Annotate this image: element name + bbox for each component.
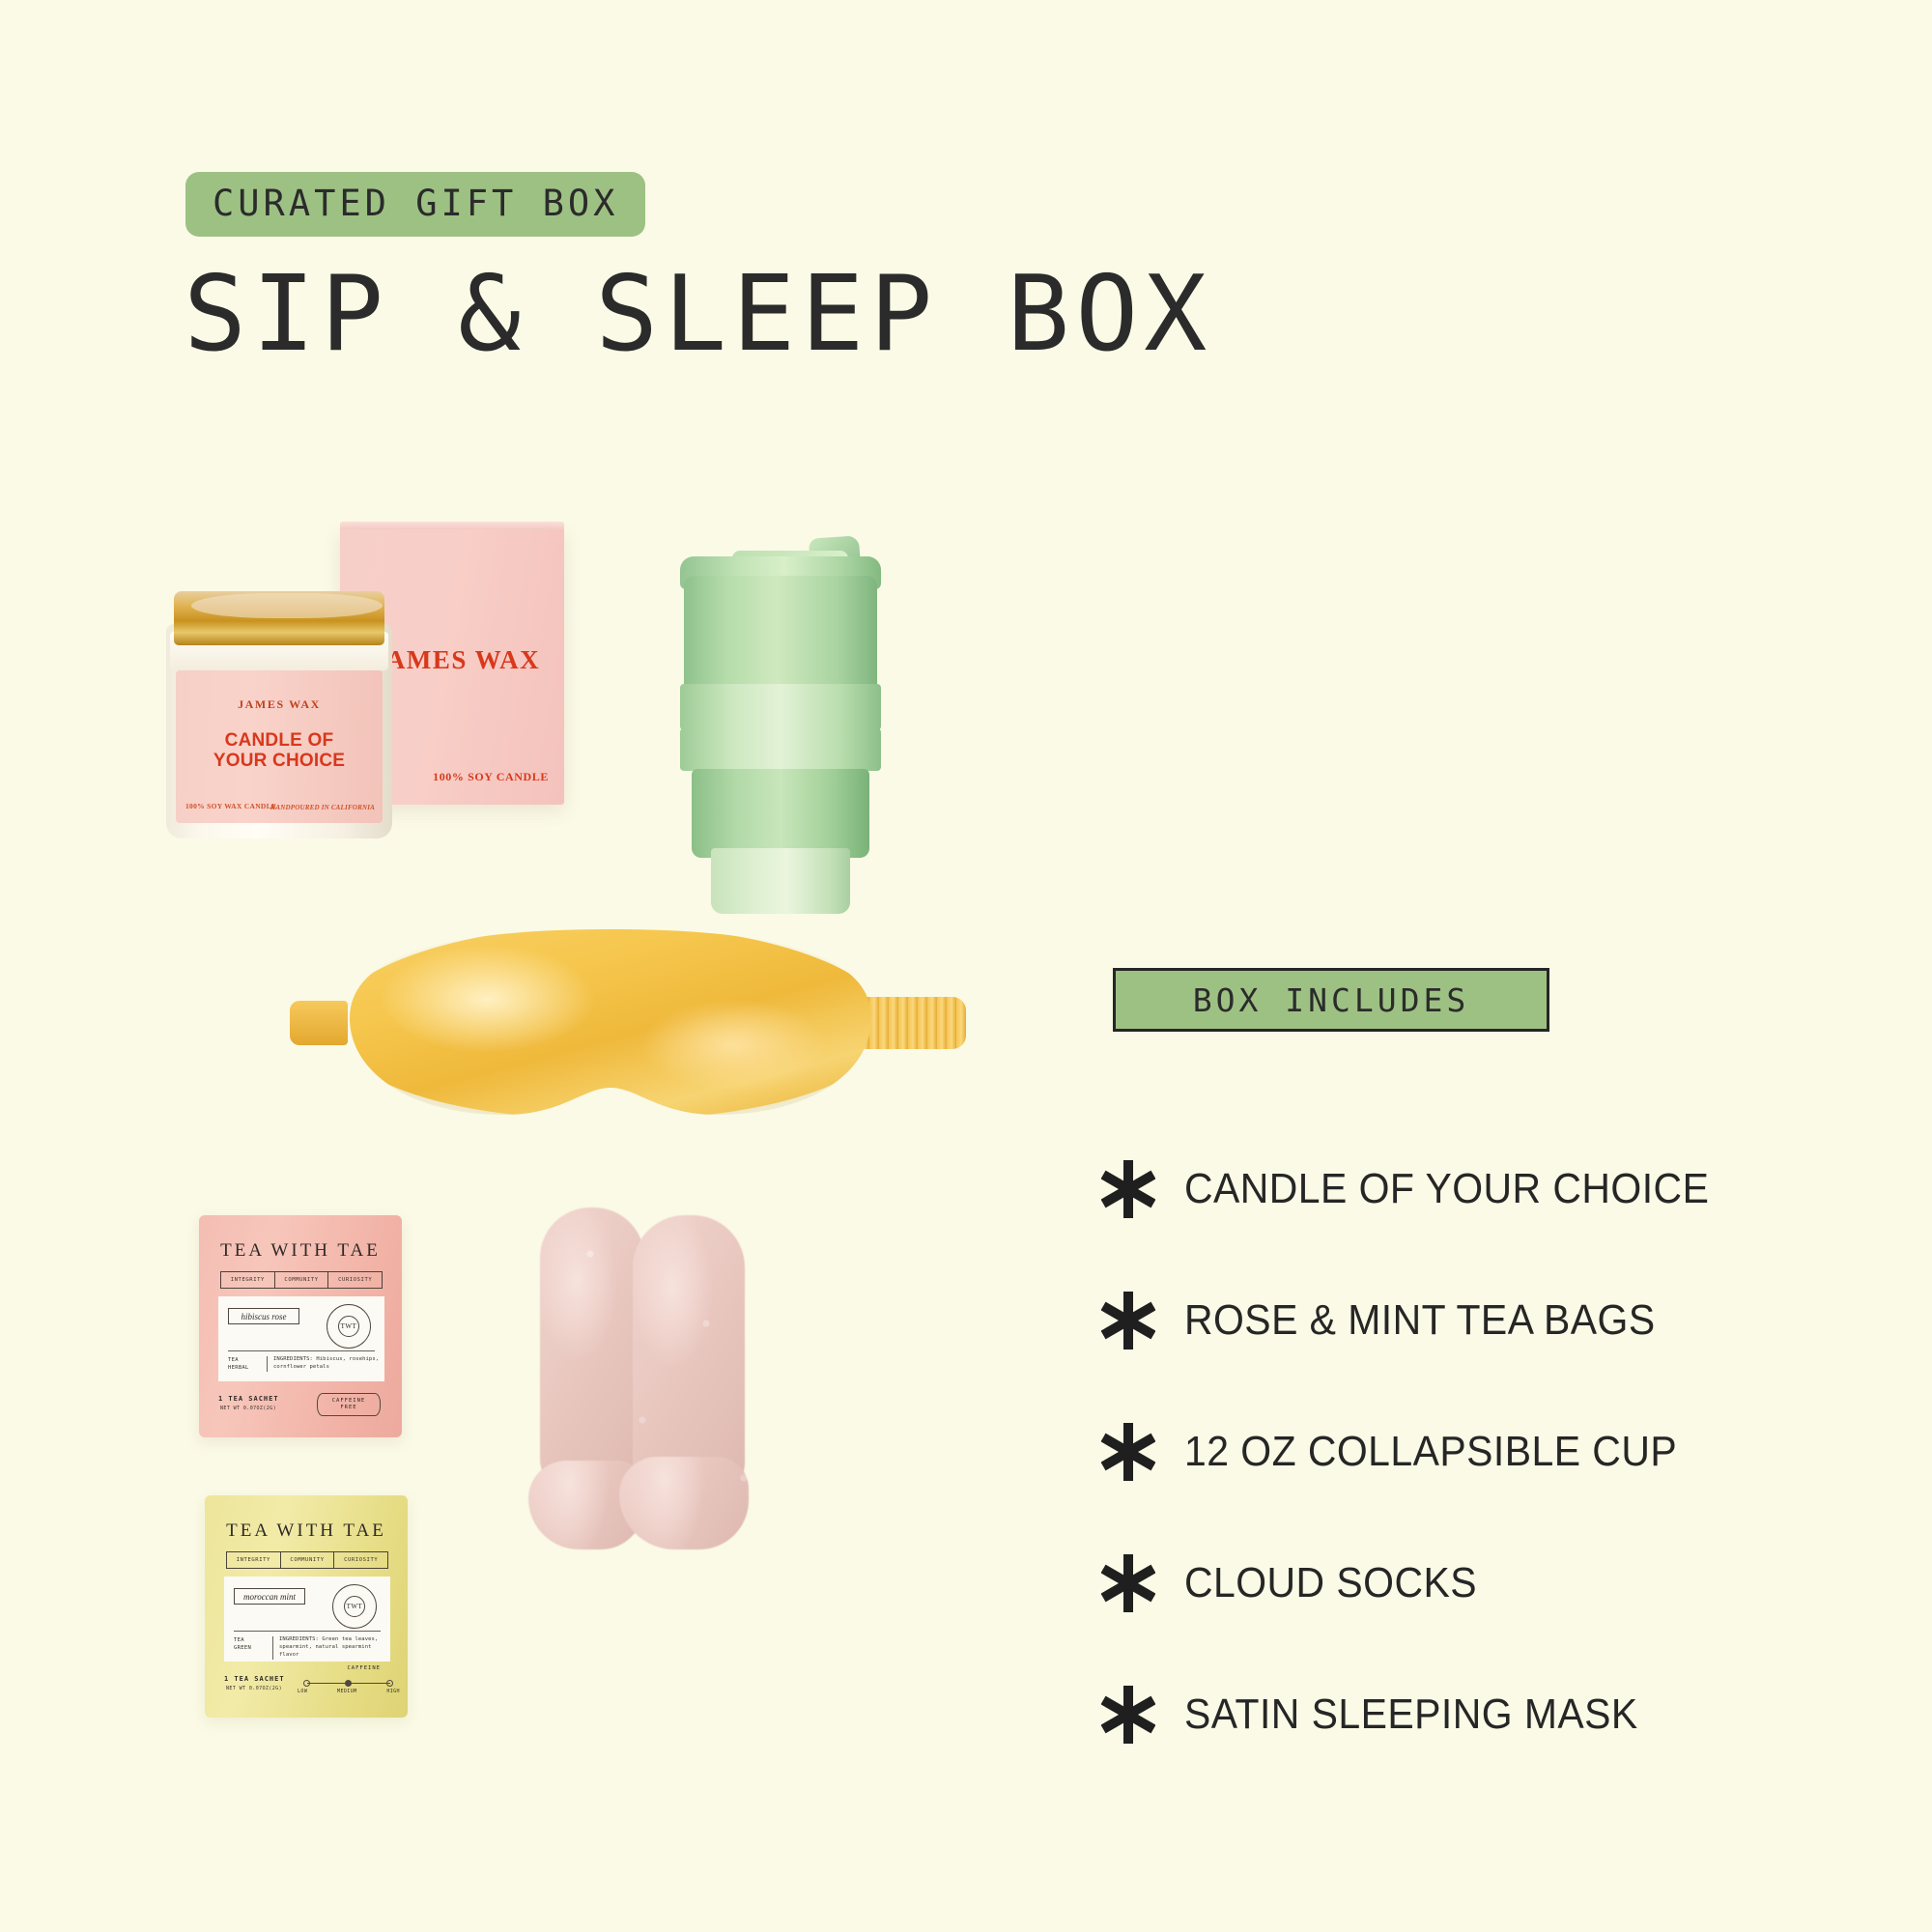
tea-yellow-value-2: COMMUNITY bbox=[280, 1552, 334, 1568]
box-includes-badge: BOX INCLUDES bbox=[1113, 968, 1549, 1032]
tea-yellow-value-1: INTEGRITY bbox=[227, 1552, 280, 1568]
sock-right-foot bbox=[619, 1457, 749, 1549]
mask-body bbox=[330, 925, 891, 1119]
tea-pink-value-1: INTEGRITY bbox=[221, 1272, 274, 1288]
candle-jar-title-line2: YOUR CHOICE bbox=[176, 751, 383, 771]
curated-gift-box-badge-label: CURATED GIFT BOX bbox=[213, 183, 618, 224]
tea-yellow-seal-icon: TWT bbox=[332, 1584, 377, 1629]
tea-yellow-type-line1: TEA bbox=[234, 1636, 267, 1644]
tea-pink-ingredients: INGREDIENTS: Hibiscus, rosehips, cornflo… bbox=[267, 1356, 382, 1372]
list-item: CANDLE OF YOUR CHOICE bbox=[1101, 1159, 1855, 1219]
asterisk-icon bbox=[1101, 1160, 1184, 1218]
list-item-label: 12 OZ COLLAPSIBLE CUP bbox=[1184, 1428, 1677, 1476]
candle-jar-foot-right: HANDPOURED IN CALIFORNIA bbox=[270, 804, 375, 811]
tea-pink-type-line2: HERBAL bbox=[228, 1364, 261, 1372]
tea-yellow-foot: 1 TEA SACHET bbox=[224, 1675, 285, 1683]
tea-yellow-divider bbox=[234, 1631, 381, 1632]
tea-pink-divider bbox=[228, 1350, 375, 1351]
candle-jar-brand: JAMES WAX bbox=[176, 697, 383, 712]
asterisk-icon bbox=[1101, 1292, 1184, 1350]
tea-yellow-scale-labels: LOW MEDIUM HIGH bbox=[298, 1689, 400, 1694]
tea-yellow-ingredients: INGREDIENTS: Green tea leaves, spearmint… bbox=[272, 1636, 387, 1660]
gift-box-poster: CURATED GIFT BOX SIP & SLEEP BOX JAMES W… bbox=[0, 0, 1932, 1932]
tea-pink-seal-mark: TWT bbox=[338, 1316, 359, 1337]
tea-pink-caffeine-free-badge: CAFFEINE FREE bbox=[317, 1393, 381, 1416]
satin-sleeping-mask bbox=[290, 916, 966, 1148]
cup-fold-lower bbox=[680, 728, 881, 771]
list-item-label: ROSE & MINT TEA BAGS bbox=[1184, 1296, 1656, 1345]
tea-yellow-type: TEA GREEN bbox=[234, 1636, 267, 1653]
asterisk-icon bbox=[1101, 1554, 1184, 1612]
list-item-label: CANDLE OF YOUR CHOICE bbox=[1184, 1165, 1709, 1213]
list-item-label: CLOUD SOCKS bbox=[1184, 1559, 1477, 1607]
list-item-label: SATIN SLEEPING MASK bbox=[1184, 1690, 1638, 1739]
caffeine-label-medium: MEDIUM bbox=[337, 1689, 356, 1694]
cup-foot bbox=[711, 848, 850, 914]
list-item: ROSE & MINT TEA BAGS bbox=[1101, 1291, 1855, 1350]
candle-jar-foot-left: 100% SOY WAX CANDLE bbox=[185, 802, 276, 810]
list-item: CLOUD SOCKS bbox=[1101, 1553, 1855, 1613]
caffeine-scale-dot-medium bbox=[345, 1680, 352, 1687]
tea-sachet-hibiscus-rose: TEA WITH TAE INTEGRITY COMMUNITY CURIOSI… bbox=[199, 1215, 402, 1437]
cup-fold-upper bbox=[680, 684, 881, 730]
tea-yellow-foot-sub: NET WT 0.07OZ(2G) bbox=[226, 1686, 282, 1691]
tea-pink-values: INTEGRITY COMMUNITY CURIOSITY bbox=[220, 1271, 383, 1289]
tea-yellow-seal-mark: TWT bbox=[344, 1596, 365, 1617]
tea-pink-caffeine-line1: CAFFEINE bbox=[332, 1398, 366, 1405]
tea-pink-brand: TEA WITH TAE bbox=[199, 1240, 402, 1262]
list-item: SATIN SLEEPING MASK bbox=[1101, 1685, 1855, 1745]
tea-pink-seal-icon: TWT bbox=[327, 1304, 371, 1349]
candle-jar: JAMES WAX CANDLE OF YOUR CHOICE 100% SOY… bbox=[166, 580, 392, 838]
tea-yellow-flavor: moroccan mint bbox=[234, 1588, 305, 1605]
cup-upper-body bbox=[684, 576, 877, 688]
tea-pink-type-line1: TEA bbox=[228, 1356, 261, 1364]
tea-pink-value-3: CURIOSITY bbox=[327, 1272, 382, 1288]
tea-pink-foot: 1 TEA SACHET bbox=[218, 1395, 279, 1403]
list-item: 12 OZ COLLAPSIBLE CUP bbox=[1101, 1422, 1855, 1482]
caffeine-scale-dot-low bbox=[303, 1680, 310, 1687]
curated-gift-box-badge: CURATED GIFT BOX bbox=[185, 172, 645, 237]
caffeine-scale-dot-high bbox=[386, 1680, 393, 1687]
tea-pink-foot-sub: NET WT 0.07OZ(2G) bbox=[220, 1406, 276, 1411]
tea-yellow-value-3: CURIOSITY bbox=[333, 1552, 387, 1568]
tea-pink-flavor: hibiscus rose bbox=[228, 1308, 299, 1324]
tea-yellow-caffeine-title: CAFFEINE bbox=[348, 1665, 382, 1671]
box-includes-list: CANDLE OF YOUR CHOICE ROSE & MINT TEA BA… bbox=[1101, 1159, 1855, 1816]
tea-yellow-type-line2: GREEN bbox=[234, 1644, 267, 1652]
tea-yellow-brand: TEA WITH TAE bbox=[205, 1520, 408, 1542]
cup-base-ring bbox=[692, 769, 869, 858]
tea-yellow-values: INTEGRITY COMMUNITY CURIOSITY bbox=[226, 1551, 388, 1569]
page-title: SIP & SLEEP BOX bbox=[184, 249, 1212, 380]
candle-jar-label: JAMES WAX CANDLE OF YOUR CHOICE 100% SOY… bbox=[176, 670, 383, 823]
candle-jar-lid-top bbox=[191, 593, 383, 618]
tea-sachet-moroccan-mint: TEA WITH TAE INTEGRITY COMMUNITY CURIOSI… bbox=[205, 1495, 408, 1718]
caffeine-label-high: HIGH bbox=[386, 1689, 400, 1694]
sock-left-leg bbox=[540, 1207, 644, 1497]
asterisk-icon bbox=[1101, 1686, 1184, 1744]
collapsible-cup bbox=[676, 529, 889, 916]
box-includes-badge-label: BOX INCLUDES bbox=[1193, 981, 1469, 1019]
mask-strap-left bbox=[290, 1001, 348, 1045]
candle-jar-title-line1: CANDLE OF bbox=[176, 730, 383, 751]
candle-jar-lid bbox=[174, 591, 384, 645]
tea-yellow-caffeine-scale bbox=[303, 1679, 394, 1687]
asterisk-icon bbox=[1101, 1423, 1184, 1481]
cloud-socks bbox=[526, 1207, 816, 1623]
tea-pink-card: hibiscus rose TWT TEA HERBAL INGREDIENTS… bbox=[218, 1296, 384, 1381]
tea-yellow-card: moroccan mint TWT TEA GREEN INGREDIENTS:… bbox=[224, 1577, 390, 1662]
caffeine-label-low: LOW bbox=[298, 1689, 307, 1694]
mask-strap-right bbox=[860, 997, 966, 1049]
tea-pink-type: TEA HERBAL bbox=[228, 1356, 261, 1373]
tea-pink-caffeine-line2: FREE bbox=[340, 1405, 356, 1411]
tea-pink-value-2: COMMUNITY bbox=[274, 1272, 328, 1288]
candle-jar-title: CANDLE OF YOUR CHOICE bbox=[176, 730, 383, 772]
